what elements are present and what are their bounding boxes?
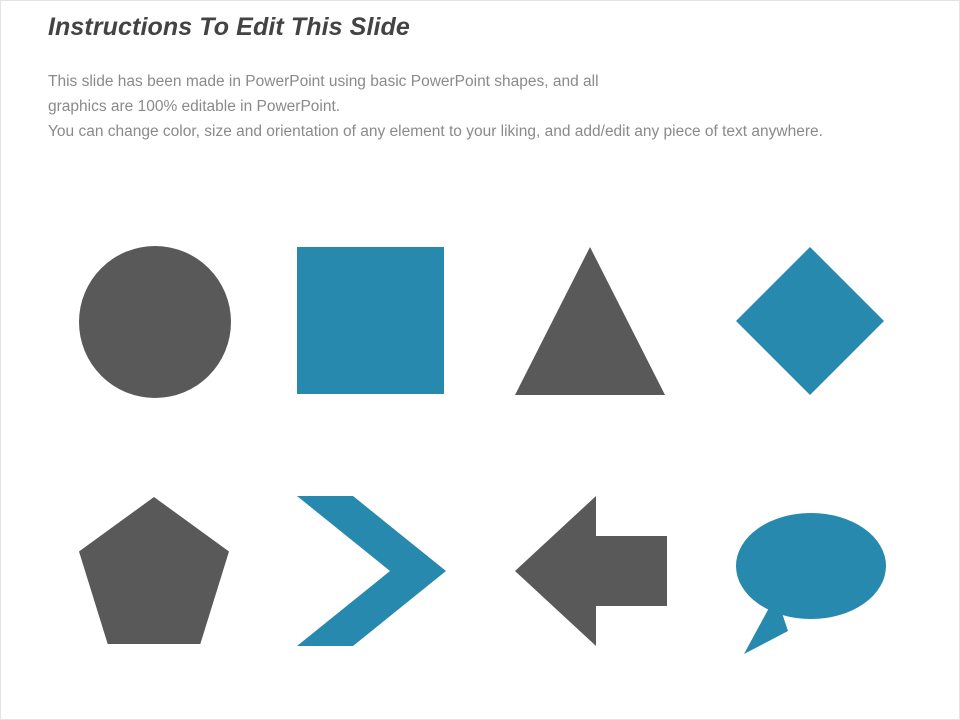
square-shape-path [297,247,444,394]
chevron-right-icon [297,496,446,646]
page-title: Instructions To Edit This Slide [48,13,410,42]
arrow-left-shape-path [515,496,667,646]
diamond-icon [736,247,884,395]
slide-canvas: Instructions To Edit This Slide This sli… [0,0,960,720]
circle-icon [79,246,231,398]
shape-square[interactable] [297,247,444,394]
shape-triangle[interactable] [515,247,665,395]
instructions-paragraph-1: This slide has been made in PowerPoint u… [48,69,890,119]
shape-arrow-left[interactable] [515,496,667,646]
chevron-right-shape-path [297,496,446,646]
speech-bubble-body-path [736,513,886,619]
shape-circle[interactable] [79,246,231,398]
circle-shape-path [79,246,231,398]
diamond-shape-path [736,247,884,395]
triangle-icon [515,247,665,395]
shape-pentagon[interactable] [79,497,229,644]
triangle-shape-path [515,247,665,395]
pentagon-icon [79,497,229,644]
instructions-paragraph-2: You can change color, size and orientati… [48,119,890,144]
instructions-text-block: This slide has been made in PowerPoint u… [48,69,890,144]
shape-speech-bubble[interactable] [736,513,886,655]
speech-bubble-icon [736,513,886,655]
instructions-paragraph-1-line-2: graphics are 100% editable in PowerPoint… [48,98,340,115]
shape-diamond[interactable] [736,247,884,395]
pentagon-shape-path [79,497,229,644]
square-icon [297,247,444,394]
arrow-left-icon [515,496,667,646]
shape-chevron-right[interactable] [297,496,446,646]
instructions-paragraph-1-line-1: This slide has been made in PowerPoint u… [48,69,890,94]
